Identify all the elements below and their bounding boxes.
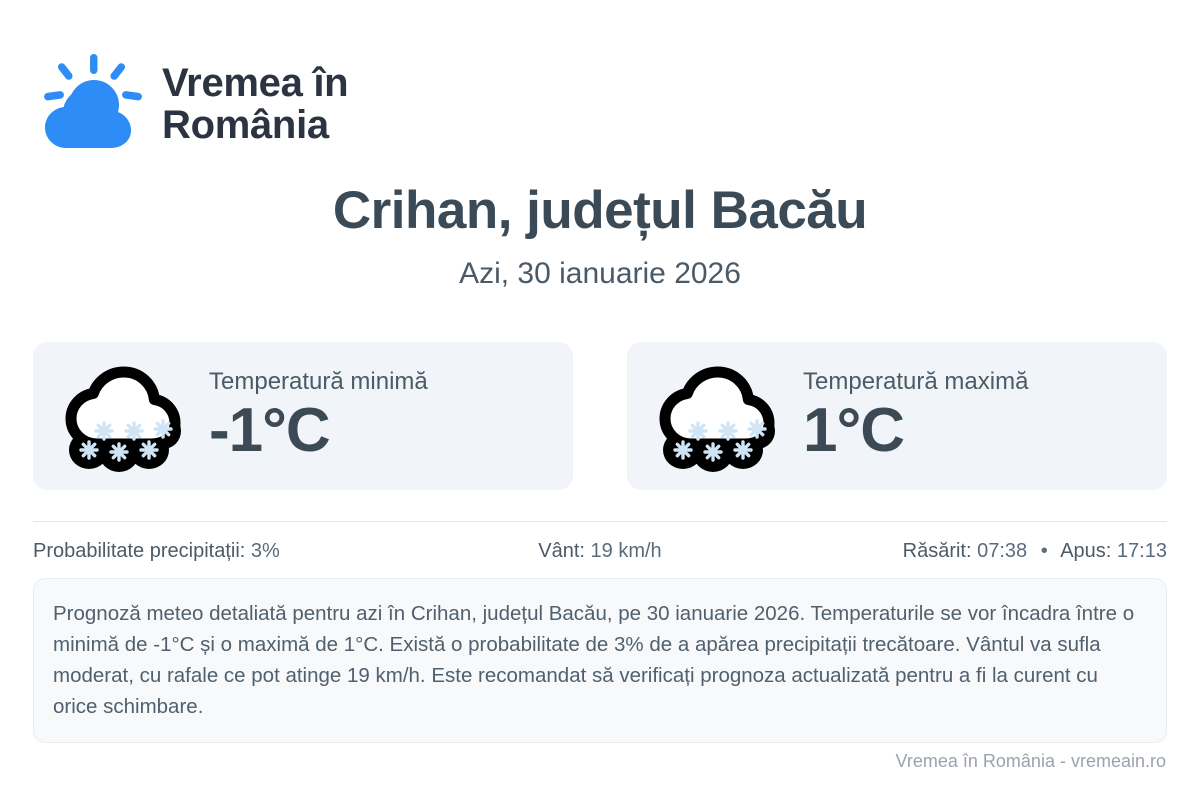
page-title: Crihan, județul Bacău <box>0 182 1200 239</box>
sun-separator: • <box>1033 540 1056 562</box>
footer-attribution: Vremea în România - vremeain.ro <box>896 751 1166 773</box>
brand-name: Vremea în România <box>162 62 348 147</box>
snow-cloud-icon <box>653 360 781 472</box>
stat-precipitation: Probabilitate precipitații: 3% <box>33 538 411 564</box>
weather-page: Vremea în România Crihan, județul Bacău … <box>0 0 1200 800</box>
page-subtitle-date: Azi, 30 ianuarie 2026 <box>0 257 1200 290</box>
wind-value: 19 km/h <box>591 540 662 562</box>
sun-behind-cloud-icon <box>36 52 144 156</box>
wind-label: Vânt: <box>538 540 585 562</box>
temperature-max-label: Temperatură maximă <box>803 369 1028 395</box>
sunset-value: 17:13 <box>1117 540 1167 562</box>
stat-sun-times: Răsărit: 07:38 • Apus: 17:13 <box>789 538 1167 564</box>
temperature-min-value: -1°C <box>209 398 428 465</box>
stats-row: Probabilitate precipitații: 3% Vânt: 19 … <box>33 538 1167 564</box>
sunrise-label: Răsărit: <box>903 540 972 562</box>
temperature-card-max: Temperatură maximă 1°C <box>627 342 1167 490</box>
temperature-min-meta: Temperatură minimă -1°C <box>209 367 428 464</box>
sunset-label: Apus: <box>1060 540 1111 562</box>
brand-logo[interactable]: Vremea în România <box>36 52 348 156</box>
temperature-min-label: Temperatură minimă <box>209 369 428 395</box>
temperature-cards: Temperatură minimă -1°C <box>33 342 1167 490</box>
title-block: Crihan, județul Bacău Azi, 30 ianuarie 2… <box>0 182 1200 290</box>
forecast-description-box: Prognoză meteo detaliată pentru azi în C… <box>33 578 1167 743</box>
precipitation-value: 3% <box>251 540 280 562</box>
precipitation-label: Probabilitate precipitații: <box>33 540 245 562</box>
forecast-description-text: Prognoză meteo detaliată pentru azi în C… <box>53 598 1140 722</box>
snow-cloud-icon <box>59 360 187 472</box>
temperature-card-min: Temperatură minimă -1°C <box>33 342 573 490</box>
temperature-max-value: 1°C <box>803 398 1028 465</box>
temperature-max-meta: Temperatură maximă 1°C <box>803 367 1028 464</box>
sunrise-value: 07:38 <box>977 540 1027 562</box>
stat-wind: Vânt: 19 km/h <box>411 538 790 564</box>
section-divider <box>33 521 1167 522</box>
